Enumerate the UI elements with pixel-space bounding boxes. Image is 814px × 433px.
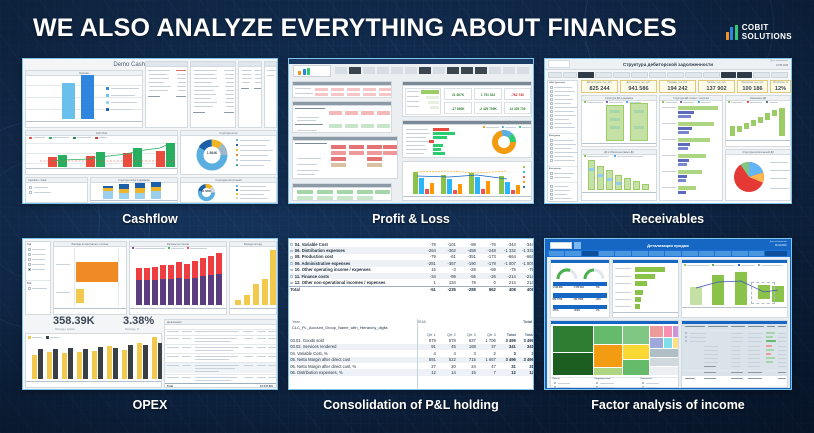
pl-lines <box>403 166 523 192</box>
pl-kpi: -762 740 <box>505 93 530 97</box>
tab-month[interactable] <box>613 72 630 78</box>
tab-2016[interactable] <box>548 72 562 78</box>
tab-item[interactable] <box>363 67 375 74</box>
panel-profit-loss[interactable]: 21 467K 1 751 332 -762 740 -17 892K -2 4… <box>288 58 534 204</box>
filter-checkbox[interactable] <box>550 126 553 129</box>
kpi-value: 175% <box>553 310 559 312</box>
filter-checkbox[interactable] <box>28 263 31 266</box>
update-label: Дата обновления <box>770 60 788 62</box>
tab-month[interactable] <box>771 72 788 78</box>
filter-checkbox[interactable] <box>28 287 31 290</box>
filter-checkbox[interactable] <box>550 151 553 154</box>
kpi-row-header <box>553 305 607 309</box>
cashflow-table-4[interactable] <box>264 61 277 128</box>
receivables-obligations-chart[interactable]: ДЗ к Обязательствам и ДЗ <box>581 149 657 201</box>
receivables-kpi-3[interactable]: Оплаты, тыс. руб. 137 902 <box>698 80 735 93</box>
receivables-kpi-4[interactable]: Просрочка, тыс. руб. 100 186 <box>737 80 768 93</box>
row-label: Total <box>289 286 417 293</box>
filter-group-label: Подразделение <box>595 378 611 380</box>
pl-kpi-grid[interactable]: 21 467K 1 751 332 -762 740 -17 892K -2 4… <box>402 81 532 117</box>
factor-kpi-card[interactable]: 1 546 680 1 473 094 -5% 950 779K 423 759… <box>550 259 610 318</box>
opex-contractor-chart[interactable]: Расходы по контрагенту и статье <box>53 241 127 315</box>
tab-month[interactable] <box>753 72 770 78</box>
pl-kpi: -17 892K <box>445 107 471 111</box>
receivables-kpi-0[interactable]: ДЗ на начало, тыс. руб. 825 244 <box>581 80 618 93</box>
filter-checkbox[interactable] <box>550 147 553 150</box>
page-header: WE ALSO ANALYZE EVERYTHING ABOUT FINANCE… <box>0 0 814 58</box>
cashflow-filter-operation[interactable]: Operation - Cash <box>25 177 88 203</box>
row-value: 12 <box>517 369 534 375</box>
hierarchy-column-header: CLC_PL_Account_Group_Name_with_Hierarchy… <box>292 325 388 330</box>
tab-item[interactable] <box>405 67 417 74</box>
row-value: 134 <box>437 279 457 286</box>
kpi-row-header <box>553 282 607 286</box>
brand-logo: COBIT SOLUTIONS <box>726 24 792 41</box>
caption-cashflow: Cashflow <box>22 212 278 226</box>
opex-yearly-chart[interactable]: Расходы по году <box>229 241 277 315</box>
caption-receivables: Receivables <box>544 212 792 226</box>
filter-checkbox[interactable] <box>29 186 32 189</box>
kpi-value: 137 902 <box>699 86 734 92</box>
receivables-kpi-2[interactable]: Продажи, тыс. руб. 194 242 <box>659 80 696 93</box>
tab-2019-active[interactable] <box>582 251 598 256</box>
filter-checkbox[interactable] <box>550 185 553 188</box>
tab-item-active[interactable] <box>349 67 361 74</box>
tab-month-active[interactable] <box>721 72 736 78</box>
row-value: 12 <box>417 369 437 375</box>
kpi-label: Оплаты, тыс. руб. <box>699 82 734 84</box>
kpi-row-header <box>553 293 607 298</box>
tab-month[interactable] <box>599 251 615 256</box>
row-value: 12 <box>497 369 517 375</box>
filter-checkbox[interactable] <box>642 382 645 385</box>
caption-consolidation: Consolidation of P&L holding <box>288 398 534 412</box>
tab-2017[interactable] <box>563 72 577 78</box>
row-value: 78 <box>457 279 477 286</box>
widget-title: Operation - Cash <box>26 178 87 183</box>
tab-month[interactable] <box>631 72 648 78</box>
pl-table-detail[interactable] <box>292 136 398 179</box>
row-value: -288 <box>457 286 477 293</box>
filter-checkbox[interactable] <box>550 197 553 200</box>
receivables-titlebar: Структура дебиторской задолженности Дата… <box>545 59 791 70</box>
pl-rows-table: 04. Variable Cost-78-101-89-76-344-34406… <box>289 241 534 293</box>
opex-planfact-chart[interactable] <box>25 333 162 388</box>
filter-checkbox[interactable] <box>550 139 553 142</box>
opex-total-value: 10 547 815 <box>260 385 273 388</box>
kpi-value: 1 473 094 <box>574 287 584 289</box>
kpi-label: Просрочка, % <box>771 82 790 84</box>
factor-nav-tabs[interactable] <box>547 250 790 257</box>
row-value: -51 <box>417 286 437 293</box>
tab-month[interactable] <box>699 251 715 256</box>
tab-month[interactable] <box>732 251 748 256</box>
update-date: 27.05.2019 <box>776 64 788 67</box>
tab-item-active[interactable] <box>419 67 431 74</box>
year-value: 2016 <box>417 319 426 324</box>
cashflow-table-2[interactable] <box>190 61 236 128</box>
filter-checkbox[interactable] <box>596 382 599 385</box>
panel-cashflow[interactable]: Demo Cashflow Dashboard Платежи <box>22 58 278 204</box>
expand-toggle[interactable] <box>685 332 688 335</box>
cashflow-income-donut[interactable]: Структура поступлений 11 583K <box>180 177 277 203</box>
cashflow-payments-donut[interactable]: Структура оплат 1 584K <box>180 130 277 175</box>
consolidation-table-bottom[interactable]: Year 2016 Total CLC_PL_Account_Group_Nam… <box>289 319 534 376</box>
tab-2018[interactable] <box>565 251 581 256</box>
update-date: 30.04.2019 <box>775 245 787 247</box>
filter-checkbox[interactable] <box>28 253 31 256</box>
filter-checkbox[interactable] <box>550 172 553 175</box>
pl-kpi: 14 325 739 <box>505 107 530 111</box>
receivables-overdue-pie[interactable]: Структура просроченной ДЗ <box>725 149 791 201</box>
caption-opex: OPEX <box>22 398 278 412</box>
table-row[interactable]: Total-51-235-288962408408 <box>289 286 534 293</box>
row-value: 214 <box>517 279 534 286</box>
panel-consolidation[interactable]: 04. Variable Cost-78-101-89-76-344-34406… <box>288 238 534 390</box>
kpi-label: Просрочка, тыс. руб. <box>738 82 767 84</box>
gauge-icon <box>583 265 605 280</box>
kpi-value: 825 244 <box>582 86 617 92</box>
tab-month[interactable] <box>667 72 684 78</box>
widget-title: Структура ДЗ: клиент / отсрочка <box>660 96 722 101</box>
filter-checkbox[interactable] <box>554 386 557 389</box>
tab-2017[interactable] <box>549 251 565 256</box>
table-row[interactable]: 12. Other non-operational incomes / expe… <box>289 279 534 286</box>
tab-item[interactable] <box>433 67 445 74</box>
widget-title: Структура оплат <box>181 131 276 136</box>
tab-month[interactable] <box>595 72 612 78</box>
filter-checkbox[interactable] <box>550 94 553 97</box>
factor-topbar: Детализация продаж Дата обновления 30.04… <box>547 241 790 250</box>
caption-factor-analysis: Factor analysis of income <box>544 398 792 412</box>
filter-checkbox[interactable] <box>550 110 553 113</box>
cashflow-payments-chart[interactable]: Платежи <box>25 70 143 128</box>
filter-checkbox[interactable] <box>550 176 553 179</box>
filter-checkbox[interactable] <box>550 189 553 192</box>
filter-checkbox[interactable] <box>550 155 553 158</box>
tab-reset[interactable] <box>765 251 787 256</box>
expand-toggle[interactable] <box>685 336 688 339</box>
filter-group-label: Менеджер <box>549 135 560 137</box>
tab-item[interactable] <box>391 67 403 74</box>
filter-checkbox[interactable] <box>550 86 553 89</box>
filter-checkbox-selected[interactable] <box>28 268 31 271</box>
opex-monthly-chart[interactable]: Расходы по статьям <box>129 241 227 315</box>
kpi-value: 423 759K <box>574 299 584 301</box>
filter-checkbox[interactable] <box>642 386 645 389</box>
tab-item[interactable] <box>377 67 389 74</box>
logo-line-2: SOLUTIONS <box>742 33 792 42</box>
widget-title: Структура оплат в динамике <box>91 178 177 183</box>
filter-checkbox[interactable] <box>28 258 31 261</box>
filter-checkbox[interactable] <box>550 114 553 117</box>
kpi-value: 12% <box>771 86 790 92</box>
kpi-label: ДЗ на начало, тыс. руб. <box>582 82 617 84</box>
caption-profit-loss: Profit & Loss <box>288 212 534 226</box>
row-value: 15 <box>457 369 477 375</box>
cashflow-stacked-chart[interactable]: Структура оплат в динамике <box>90 177 178 203</box>
tab-month[interactable] <box>749 251 765 256</box>
filter-checkbox[interactable] <box>550 193 553 196</box>
filter-checkbox[interactable] <box>550 102 553 105</box>
row-value: 0 <box>477 279 497 286</box>
filter-checkbox[interactable] <box>550 106 553 109</box>
filter-checkbox[interactable] <box>29 191 32 194</box>
gauge-icon <box>556 265 578 280</box>
panel-factor-analysis[interactable]: Детализация продаж Дата обновления 30.04… <box>544 238 792 390</box>
filter-checkbox[interactable] <box>550 159 553 162</box>
table-row[interactable]: 06. Distribution expenses, %12141571212 <box>289 369 534 375</box>
filter-checkbox[interactable] <box>550 90 553 93</box>
opex-detail-table[interactable]: Детализация Total 10 547 815 <box>164 319 277 388</box>
factor-treemap[interactable]: Проект Подразделение Контрагент <box>550 320 679 388</box>
tab-month[interactable] <box>632 251 648 256</box>
widget-title: Cash Flow <box>26 131 177 136</box>
pl-table-summary[interactable] <box>292 81 392 98</box>
pl-topbar <box>289 59 533 64</box>
filter-checkbox[interactable] <box>550 122 553 125</box>
factor-title: Детализация продаж <box>547 243 790 248</box>
row-value: 214 <box>497 279 517 286</box>
tab-item[interactable] <box>335 67 347 74</box>
filter-group-label: Контрагент <box>641 378 653 380</box>
tab-item[interactable] <box>517 67 529 74</box>
factor-waterfall-chart[interactable] <box>681 259 788 318</box>
opex-kpi-amount: 358.39K <box>53 315 95 327</box>
donut-center-value: 11 583K <box>197 190 216 193</box>
receivables-decomposition-chart[interactable]: Структура ДЗ в динамике <box>581 95 657 147</box>
widget-title: Расходы по году <box>230 242 276 247</box>
expand-toggle[interactable] <box>685 340 688 343</box>
pl-kpi: 1 751 332 <box>475 93 501 97</box>
kpi-value: -5% <box>596 287 600 289</box>
row-value: 962 <box>477 286 497 293</box>
cashflow-table-1[interactable] <box>145 61 188 128</box>
pl-trend-chart[interactable] <box>402 161 532 201</box>
tab-month[interactable] <box>649 251 665 256</box>
pie-chart <box>732 160 766 194</box>
receivables-kpi-5[interactable]: Просрочка, % 12% <box>770 80 791 93</box>
panel-receivables[interactable]: Структура дебиторской задолженности Дата… <box>544 58 792 204</box>
tab-item-active[interactable] <box>475 67 487 74</box>
receivables-structure-chart[interactable]: Структура ДЗ: клиент / отсрочка <box>659 95 723 201</box>
quarters-table: Qtr 1Qtr 2Qtr 3Qtr 4TotalTotal 03.01. Go… <box>289 331 534 376</box>
receivables-title: Структура дебиторской задолженности <box>545 62 791 67</box>
widget-title: Детализация <box>165 320 276 325</box>
panel-opex[interactable]: Год Тип Расходы по контрагенту и статье … <box>22 238 278 390</box>
pl-table-variance[interactable] <box>292 101 392 133</box>
logo-bars-icon <box>726 25 738 40</box>
tab-month[interactable] <box>649 72 666 78</box>
tab-item[interactable] <box>489 67 501 74</box>
tab-2018-active[interactable] <box>578 72 594 78</box>
kpi-label: ДЗ на конец, тыс. руб. <box>621 82 656 84</box>
tab-month[interactable] <box>715 251 731 256</box>
filter-checkbox[interactable] <box>550 98 553 101</box>
pl-logo <box>293 65 331 77</box>
pl-nav-tabs[interactable] <box>335 67 529 74</box>
pl-donut-chart <box>491 129 517 155</box>
tab-month[interactable] <box>685 72 702 78</box>
receivables-waterfall-chart[interactable]: Изменение ДЗ <box>725 95 791 147</box>
kpi-value: 100 186 <box>738 86 767 92</box>
filter-checkbox[interactable] <box>28 248 31 251</box>
row-value: 7 <box>477 369 497 375</box>
kpi-value: -2% <box>596 310 600 312</box>
factor-detail-table[interactable] <box>681 320 788 388</box>
widget-title: Структура поступлений <box>181 178 276 183</box>
donut-chart <box>195 138 229 172</box>
widget-title: ДЗ к Обязательствам и ДЗ <box>582 150 656 155</box>
row-value: 408 <box>497 286 517 293</box>
widget-title: Структура ДЗ в динамике <box>582 96 656 101</box>
update-label: Дата обновления <box>770 241 787 243</box>
tab-month-active[interactable] <box>737 72 752 78</box>
tab-item-active[interactable] <box>447 67 459 74</box>
row-label: 12. Other non-operational incomes / expe… <box>289 279 417 286</box>
filter-group-label: ЦФО (филиал) <box>549 82 565 84</box>
opex-kpi-percent-label: Расходы, % <box>125 328 139 331</box>
tab-item-active[interactable] <box>461 67 473 74</box>
kpi-value: 1 546 680 <box>553 287 563 289</box>
total-label: Total <box>523 319 532 324</box>
cashflow-trend-line <box>26 140 179 168</box>
pl-kpi: 21 467K <box>445 93 471 97</box>
filter-checkbox[interactable] <box>554 382 557 385</box>
filter-checkbox[interactable] <box>550 118 553 121</box>
receivables-filter-rail[interactable]: ЦФО (филиал) Менеджер Контрагент <box>547 80 578 202</box>
row-value: 1 <box>417 279 437 286</box>
tab-item[interactable] <box>503 67 515 74</box>
widget-title: Структура просроченной ДЗ <box>726 150 790 155</box>
donut-center-value: 1 584K <box>195 151 229 155</box>
opex-kpi-percent: 3.38% <box>123 315 154 327</box>
row-value: 408 <box>517 286 534 293</box>
cashflow-table-3[interactable] <box>238 61 262 128</box>
opex-filter-year[interactable]: Год Тип <box>25 241 51 315</box>
factor-bars-chart[interactable] <box>612 259 679 318</box>
pl-table-total[interactable] <box>292 183 392 201</box>
filter-group-label: Контрагент <box>549 168 561 170</box>
widget-title: Изменение ДЗ <box>726 96 790 101</box>
year-label: Year <box>292 319 300 324</box>
filter-checkbox[interactable] <box>550 143 553 146</box>
pl-kpi: -2 429 709K <box>475 107 501 111</box>
tab-month[interactable] <box>615 251 631 256</box>
tab-month[interactable] <box>665 251 681 256</box>
kpi-value: -302% <box>574 310 581 312</box>
kpi-value: 941 586 <box>621 86 656 92</box>
pl-expense-breakdown[interactable] <box>402 120 532 158</box>
widget-title: Расходы по контрагенту и статье <box>54 242 126 247</box>
consolidation-table-top[interactable]: 04. Variable Cost-78-101-89-76-344-34406… <box>289 241 534 293</box>
filter-group-label: Проект <box>553 378 560 380</box>
row-label: 06. Distribution expenses, % <box>289 369 417 375</box>
receivables-kpi-1[interactable]: ДЗ на конец, тыс. руб. 941 586 <box>620 80 657 93</box>
kpi-value: 950 779K <box>553 299 563 301</box>
tab-month[interactable] <box>682 251 698 256</box>
receivables-nav-tabs[interactable] <box>548 72 788 78</box>
filter-checkbox[interactable] <box>596 386 599 389</box>
tab-month[interactable] <box>703 72 720 78</box>
opex-kpi-amount-label: Расходы, сумма <box>55 328 74 331</box>
row-value: 14 <box>437 369 457 375</box>
row-value: -235 <box>437 286 457 293</box>
kpi-value: -28% <box>596 299 601 301</box>
widget-title: Расходы по статьям <box>130 242 226 247</box>
kpi-value: 194 242 <box>660 86 695 92</box>
cashflow-combo-chart[interactable]: Cash Flow <box>25 130 178 175</box>
kpi-label: Продажи, тыс. руб. <box>660 82 695 84</box>
page-title: WE ALSO ANALYZE EVERYTHING ABOUT FINANCE… <box>33 14 677 43</box>
